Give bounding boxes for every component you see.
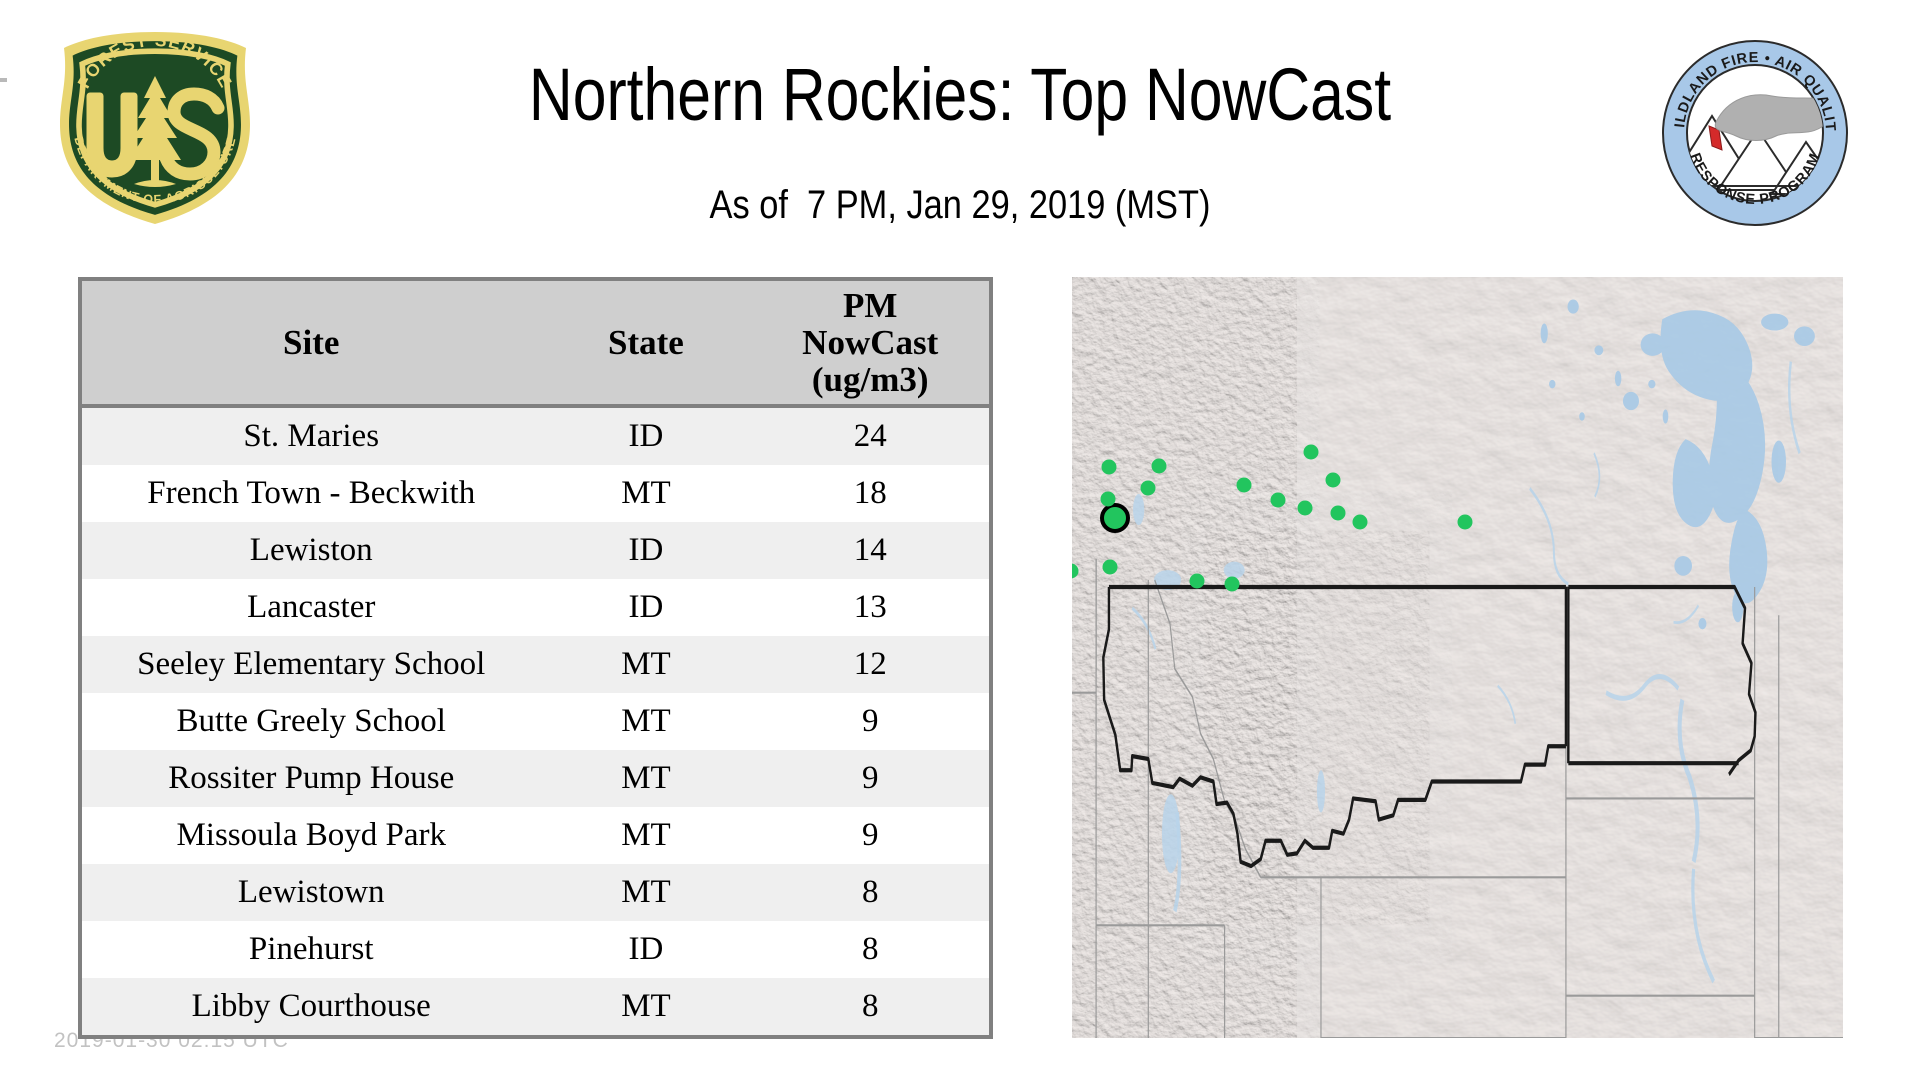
pm-cell: 8 [751,864,989,921]
site-cell: French Town - Beckwith [82,465,540,522]
pm-cell: 12 [751,636,989,693]
pm-header-line-2: NowCast [755,324,985,361]
table-row[interactable]: LewistownMT8 [82,864,989,921]
table-row[interactable]: St. MariesID24 [82,406,989,465]
table-row[interactable]: LewistonID14 [82,522,989,579]
state-cell: MT [540,750,751,807]
map-marker-good[interactable] [1225,577,1240,592]
state-cell: MT [540,807,751,864]
pm-header-line-1: PM [755,287,985,324]
map-marker-good[interactable] [1237,478,1252,493]
map-marker-good[interactable] [1304,445,1319,460]
column-header-site[interactable]: Site [82,281,540,406]
map-marker-good[interactable] [1100,503,1130,533]
map-marker-good[interactable] [1103,560,1118,575]
nowcast-table: Site State PM NowCast (ug/m3) St. Maries… [82,281,989,1035]
site-cell: Missoula Boyd Park [82,807,540,864]
pm-cell: 18 [751,465,989,522]
map-marker-good[interactable] [1102,460,1117,475]
table-row[interactable]: PinehurstID8 [82,921,989,978]
column-header-state[interactable]: State [540,281,751,406]
pm-cell: 8 [751,921,989,978]
table-row[interactable]: Missoula Boyd ParkMT9 [82,807,989,864]
table-row[interactable]: Seeley Elementary SchoolMT12 [82,636,989,693]
monitor-map[interactable] [1072,277,1843,1038]
state-cell: ID [540,406,751,465]
state-cell: ID [540,921,751,978]
table-head: Site State PM NowCast (ug/m3) [82,281,989,406]
pm-cell: 24 [751,406,989,465]
state-cell: MT [540,693,751,750]
pm-cell: 9 [751,807,989,864]
pm-header-line-3: (ug/m3) [755,361,985,398]
site-cell: St. Maries [82,406,540,465]
state-cell: ID [540,579,751,636]
state-cell: MT [540,465,751,522]
state-cell: MT [540,864,751,921]
map-marker-good[interactable] [1141,481,1156,496]
nowcast-table-container: Site State PM NowCast (ug/m3) St. Maries… [78,277,993,1039]
map-marker-good[interactable] [1353,515,1368,530]
map-basemap [1072,277,1843,1038]
map-marker-good[interactable] [1326,473,1341,488]
forest-service-logo: FOREST SERVICE DEPARTMENT OF AGRICULTURE [50,28,260,228]
site-cell: Lewistown [82,864,540,921]
table-row[interactable]: French Town - BeckwithMT18 [82,465,989,522]
slide-canvas: FOREST SERVICE DEPARTMENT OF AGRICULTURE [0,0,1920,1080]
map-marker-good[interactable] [1190,574,1205,589]
map-marker-good[interactable] [1331,506,1346,521]
table-header-row: Site State PM NowCast (ug/m3) [82,281,989,406]
map-marker-good[interactable] [1101,492,1116,507]
table-row[interactable]: LancasterID13 [82,579,989,636]
site-cell: Lancaster [82,579,540,636]
site-cell: Butte Greely School [82,693,540,750]
page-subtitle: As of 7 PM, Jan 29, 2019 (MST) [392,185,1527,225]
pm-cell: 9 [751,693,989,750]
site-cell: Rossiter Pump House [82,750,540,807]
state-cell: MT [540,978,751,1035]
map-marker-good[interactable] [1298,501,1313,516]
site-cell: Lewiston [82,522,540,579]
page-title: Northern Rockies: Top NowCast [419,58,1501,132]
table-row[interactable]: Rossiter Pump HouseMT9 [82,750,989,807]
map-marker-good[interactable] [1458,515,1473,530]
site-cell: Libby Courthouse [82,978,540,1035]
left-edge-artifact [0,78,7,82]
table-body: St. MariesID24French Town - BeckwithMT18… [82,406,989,1035]
map-marker-good[interactable] [1271,493,1286,508]
pm-cell: 8 [751,978,989,1035]
state-cell: ID [540,522,751,579]
site-cell: Pinehurst [82,921,540,978]
pm-cell: 14 [751,522,989,579]
table-row[interactable]: Butte Greely SchoolMT9 [82,693,989,750]
state-cell: MT [540,636,751,693]
map-marker-good[interactable] [1152,459,1167,474]
column-header-pm-nowcast[interactable]: PM NowCast (ug/m3) [751,281,989,406]
table-row[interactable]: Libby CourthouseMT8 [82,978,989,1035]
wfaqrp-logo: WILDLAND FIRE • AIR QUALITY RESPONSE PRO… [1660,38,1850,228]
pm-cell: 9 [751,750,989,807]
pm-cell: 13 [751,579,989,636]
site-cell: Seeley Elementary School [82,636,540,693]
